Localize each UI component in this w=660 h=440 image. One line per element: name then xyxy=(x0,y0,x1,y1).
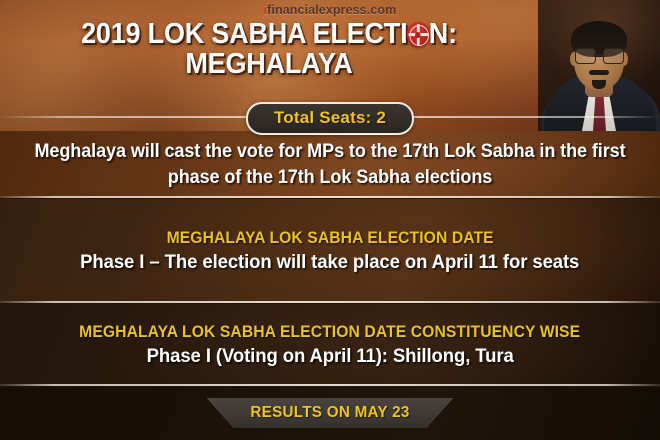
section-constituency-heading: MEGHALAYA LOK SABHA ELECTION DATE CONSTI… xyxy=(80,323,581,342)
section-intro: Meghalaya will cast the vote for MPs to … xyxy=(0,131,660,198)
portrait-moustache xyxy=(589,70,609,75)
headline-text-before-symbol: 2019 LOK SABHA ELECTI xyxy=(81,18,407,50)
headline-text-after-symbol: N: xyxy=(429,18,457,50)
section-divider-3 xyxy=(0,384,660,386)
section-election-date: MEGHALAYA LOK SABHA ELECTION DATE Phase … xyxy=(0,199,660,303)
results-banner-label: RESULTS ON MAY 23 xyxy=(213,398,447,428)
section-election-date-text: Phase I – The election will take place o… xyxy=(80,250,579,274)
section-election-date-heading: MEGHALAYA LOK SABHA ELECTION DATE xyxy=(166,229,493,248)
section-constituency-wise: MEGHALAYA LOK SABHA ELECTION DATE CONSTI… xyxy=(0,304,660,386)
eci-logo-circle xyxy=(406,22,429,47)
eci-logo-icon xyxy=(406,22,429,47)
site-logo-text: financialexpress.com xyxy=(267,3,396,17)
section-intro-text: Meghalaya will cast the vote for MPs to … xyxy=(17,139,644,191)
section-divider-2 xyxy=(0,301,660,303)
eci-logo-center-dot xyxy=(415,32,421,38)
headline-line-2: MEGHALAYA xyxy=(19,49,519,79)
portrait-glasses-bridge xyxy=(594,54,604,56)
politician-portrait-photo xyxy=(538,0,660,131)
total-seats-badge: Total Seats: 2 xyxy=(246,102,414,135)
site-logo: ifinancialexpress.com xyxy=(0,3,660,17)
logo-mark-icon: i xyxy=(264,3,266,17)
results-banner: RESULTS ON MAY 23 xyxy=(207,398,453,428)
section-divider-1 xyxy=(0,196,660,198)
portrait-glasses-left-lens xyxy=(575,48,596,64)
section-constituency-text: Phase I (Voting on April 11): Shillong, … xyxy=(146,344,513,368)
headline-line-1: 2019 LOK SABHA ELECTIN: xyxy=(19,19,519,49)
election-infographic: ifinancialexpress.com 2019 LOK SABHA ELE… xyxy=(0,0,660,440)
portrait-glasses-right-lens xyxy=(603,48,624,64)
title-block: 2019 LOK SABHA ELECTIN: MEGHALAYA xyxy=(0,19,538,79)
